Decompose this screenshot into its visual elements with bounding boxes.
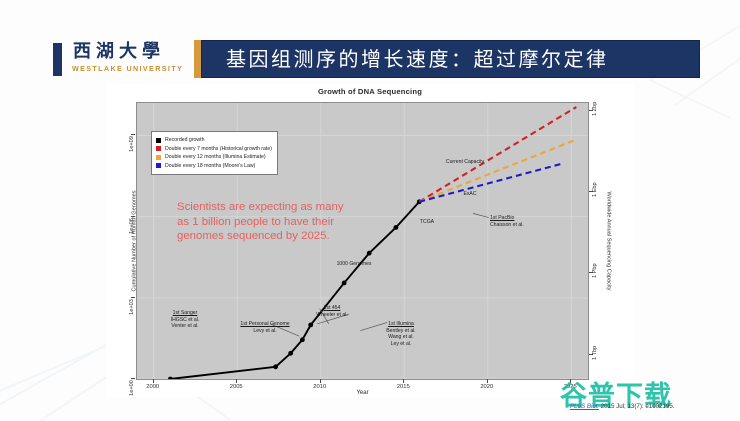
annotation-line: Ley et al. [386,341,415,348]
title-box: 基因组测序的增长速度：超过摩尔定律 [201,40,700,78]
legend-label: Double every 12 months (Illumina Estimat… [165,153,266,162]
annotation-line: Levy et al. [240,328,289,335]
legend-label: Double every 7 months (Historical growth… [165,145,272,154]
annotation-line: Venter et al. [171,323,200,330]
title-accent-bar [194,40,201,78]
annotation-exac: ExAC [463,191,476,198]
chart-title: Growth of DNA Sequencing [106,87,634,96]
figure-container: Growth of DNA Sequencing Cumulative Numb… [106,84,634,397]
x-tick-mark [153,379,154,383]
legend-swatch-icon [156,138,161,143]
x-tick-label: 2015 [397,384,410,390]
legend-swatch-icon [156,155,161,160]
annotation-line: Wheeler et al. [316,312,347,319]
annotation-line: IHGSC et al. [171,317,200,324]
y-tick-label: 1e+06 [129,216,135,236]
annotation-current-capacity: Current Capacity [446,159,484,166]
callout-text: Scientists are expecting as many as 1 bi… [177,200,352,244]
header-accent-bar [53,43,62,76]
x-tick-mark [403,379,404,383]
citation-journal: PLoS Biol. [570,403,599,410]
annotation-1st-pacbio: 1st PacBioChaisson et al. [490,215,524,228]
citation-text: PLoS Biol. 2015 Jul; 13(7): e1002195. [570,403,675,410]
y2-tick-label: 1 Ebp [592,183,598,198]
y2-tick-label: 1 Tbp [592,345,598,359]
annotation-line: 1000 Genomes [337,261,372,268]
chart-plot-area: Recorded growthDouble every 7 months (Hi… [136,102,589,380]
annotation-1st-personal-genome: 1st Personal GenomeLevy et al. [240,321,289,334]
annotation-line: 1st Personal Genome [240,321,289,328]
x-tick-label: 2000 [146,384,159,390]
title-banner: 基因组测序的增长速度：超过摩尔定律 [194,40,700,78]
legend-swatch-icon [156,146,161,151]
x-tick-mark [236,379,237,383]
annotation-line: Wang et al. [386,334,415,341]
chart-legend: Recorded growthDouble every 7 months (Hi… [151,131,278,175]
x-tick-mark [487,379,488,383]
annotation-line: TCGA [420,219,434,226]
legend-item-2: Double every 12 months (Illumina Estimat… [156,153,272,162]
annotation-line: Bentley et al. [386,328,415,335]
annotation-1000-genomes: 1000 Genomes [337,261,372,268]
annotation-line: 1st PacBio [490,215,524,222]
logo-english-name: WESTLAKE UNIVERSITY [72,64,192,74]
annotation-1st-sanger: 1st SangerIHGSC et al.Venter et al. [171,310,200,330]
legend-label: Double every 18 months (Moore's Law) [165,162,255,171]
annotation-line: Chaisson et al. [490,222,524,229]
legend-item-3: Double every 18 months (Moore's Law) [156,162,272,171]
y-tick-label: 1e+00 [129,378,135,398]
y2-tick-label: 1 Pbp [592,264,598,279]
page-title: 基因组测序的增长速度：超过摩尔定律 [202,41,699,79]
x-tick-mark [320,379,321,383]
annotation-tcga: TCGA [420,219,434,226]
y2-tick-label: 1 Zbp [592,102,598,116]
annotation-line: 1st Sanger [171,310,200,317]
westlake-logo: 西湖大學 WESTLAKE UNIVERSITY [72,38,192,80]
citation-rest: 2015 Jul; 13(7): e1002195. [599,403,675,410]
legend-item-1: Double every 7 months (Historical growth… [156,145,272,154]
annotation-line: 1st 454 [316,305,347,312]
y-tick-label: 1e+03 [129,297,135,317]
legend-swatch-icon [156,163,161,168]
x-tick-label: 2010 [313,384,326,390]
legend-label: Recorded growth [165,136,205,145]
logo-chinese-name: 西湖大學 [72,38,192,64]
slide-canvas: 西湖大學 WESTLAKE UNIVERSITY 基因组测序的增长速度：超过摩尔… [0,0,740,421]
legend-item-0: Recorded growth [156,136,272,145]
annotation-1st-illumina: 1st IlluminaBentley et al.Wang et al.Ley… [386,321,415,347]
slide-header: 西湖大學 WESTLAKE UNIVERSITY 基因组测序的增长速度：超过摩尔… [0,38,740,80]
y-tick-label: 1e+09 [129,134,135,154]
annotation-line: ExAC [463,191,476,198]
x-tick-label: 2020 [480,384,493,390]
x-tick-label: 2005 [230,384,243,390]
y2-axis-label: Worldwide Annual Sequencing Capacity [605,191,611,290]
annotation-1st-454: 1st 454Wheeler et al. [316,305,347,318]
x-axis-label: Year [136,390,589,396]
annotation-line: 1st Illumina [386,321,415,328]
annotation-line: Current Capacity [446,159,484,166]
